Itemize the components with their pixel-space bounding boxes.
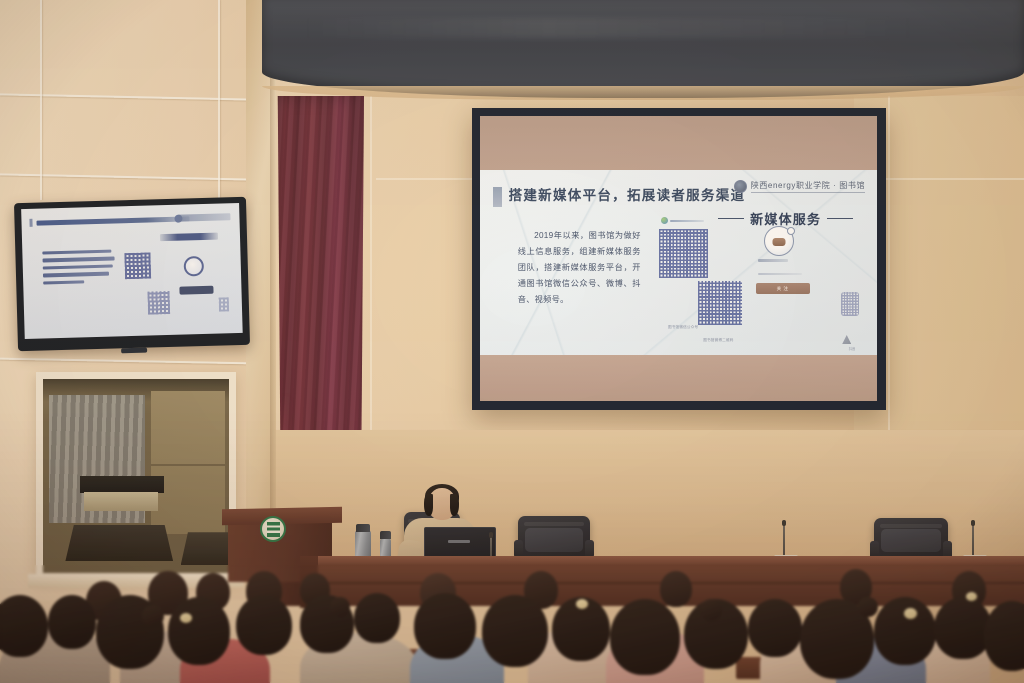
lecture-hall-photo: 搭建新媒体平台，拓展读者服务渠道 陕西energy职业学院 · 图书馆 新媒体服…	[0, 0, 1024, 683]
hair-scrunchie	[180, 613, 192, 623]
qr-caption: 图书馆微博二维码	[694, 338, 742, 343]
slide-body-text: 2019年以来，图书馆为做好线上信息服务，组建新媒体服务团队，搭建新媒体服务平台…	[518, 228, 641, 308]
ceiling-soffit	[262, 0, 1024, 98]
douyin-caption: 抖音	[849, 346, 855, 351]
wall-monitor[interactable]	[14, 197, 250, 351]
hair-scrunchie	[576, 599, 588, 609]
audience-head	[414, 593, 476, 659]
qr-code-wechat	[659, 229, 708, 278]
slide-logo-text: 陕西energy职业学院 · 图书馆	[751, 180, 865, 193]
microphone-head	[782, 520, 786, 526]
soffit-sheen	[300, 18, 920, 38]
monitor-bezel	[14, 197, 250, 351]
control-booth-window	[36, 372, 236, 580]
audience-head	[934, 597, 992, 659]
audience-head	[660, 571, 692, 607]
booth-panel-seam	[151, 464, 225, 466]
qr-badge-label	[670, 220, 704, 223]
screen-letterbox-bottom	[480, 355, 877, 401]
thermos-cap	[356, 524, 370, 532]
hair-scrunchie	[966, 592, 977, 601]
slide-subtitle: 新媒体服务	[750, 209, 821, 228]
audience-head	[236, 595, 292, 655]
small-qr-code	[841, 292, 859, 316]
mini-qr-code	[125, 252, 152, 279]
qr-badge	[661, 217, 704, 224]
mini-phone-circle	[183, 256, 204, 277]
booth-console	[65, 525, 173, 562]
qr-code-weibo	[698, 281, 742, 325]
slide-subtitle-row: 新媒体服务	[718, 209, 853, 228]
audience-hair-bun	[858, 597, 878, 617]
booth-console-secondary	[181, 532, 229, 565]
monitor-screen	[21, 203, 243, 339]
audience-head	[0, 595, 48, 657]
mini-slide-subtitle	[160, 232, 218, 241]
screen-letterbox-top	[480, 116, 877, 170]
screen-surface: 搭建新媒体平台，拓展读者服务渠道 陕西energy职业学院 · 图书馆 新媒体服…	[480, 116, 877, 401]
audience-head	[610, 599, 680, 675]
mini-slide-title	[37, 216, 190, 225]
laptop-brand-mark	[448, 540, 470, 543]
microphone-stand	[783, 525, 785, 557]
douyin-icon	[842, 335, 851, 344]
audience-head	[168, 597, 230, 665]
microphone-head	[489, 532, 493, 538]
microphone-head	[971, 520, 975, 526]
library-logo-icon	[734, 180, 747, 193]
slide-logo: 陕西energy职业学院 · 图书馆	[734, 180, 865, 193]
wall-seam	[370, 96, 372, 434]
account-avatar	[764, 226, 794, 256]
audience-hair-bun	[330, 597, 350, 617]
verified-badge-icon	[787, 227, 795, 235]
follow-button-label: 关 注	[777, 286, 789, 292]
account-name	[758, 259, 788, 262]
wall-reveal-line	[218, 0, 220, 200]
wechat-logo-icon	[661, 217, 668, 224]
audience-head	[874, 597, 936, 665]
qr-caption: 图书馆微信公众号	[659, 325, 708, 330]
audience-head	[354, 593, 400, 643]
projection-screen[interactable]: 搭建新媒体平台，拓展读者服务渠道 陕西energy职业学院 · 图书馆 新媒体服…	[472, 108, 886, 410]
mini-slide-body	[42, 249, 115, 288]
crest-inner	[267, 522, 280, 537]
monitor-stand	[121, 348, 147, 354]
mini-slide-accent	[29, 219, 32, 227]
speaker-hair-right	[450, 494, 459, 516]
follow-button[interactable]: 关 注	[756, 283, 810, 294]
presentation-slide: 搭建新媒体平台，拓展读者服务渠道 陕西energy职业学院 · 图书馆 新媒体服…	[480, 170, 877, 355]
thermos-cap	[380, 531, 391, 539]
audience-head	[482, 595, 548, 667]
subtitle-rule-right	[827, 218, 853, 219]
slide-title-accent	[493, 187, 502, 207]
speaker-hair-left	[424, 494, 433, 516]
chair-cushion	[881, 529, 940, 552]
mini-slide-logo	[179, 214, 231, 222]
booth-wall-panel	[151, 391, 225, 535]
mini-qr-code	[219, 297, 229, 311]
mini-qr-code	[148, 291, 171, 315]
microphone-stand	[972, 525, 974, 557]
hair-scrunchie	[904, 608, 917, 619]
audience-hair-bun	[700, 599, 722, 621]
audience-hair-bun	[142, 605, 164, 627]
chair-cushion	[525, 528, 583, 552]
mini-follow-button	[179, 286, 213, 295]
booth-glass	[43, 379, 229, 573]
subtitle-rule-left	[718, 218, 744, 219]
booth-equipment-light	[84, 492, 158, 511]
slide-title: 搭建新媒体平台，拓展读者服务渠道	[509, 184, 746, 204]
wall-reveal-line	[40, 0, 42, 200]
audience-head	[48, 595, 96, 649]
audience-head	[748, 599, 802, 657]
school-crest-icon	[260, 516, 286, 542]
account-meta	[758, 273, 802, 275]
